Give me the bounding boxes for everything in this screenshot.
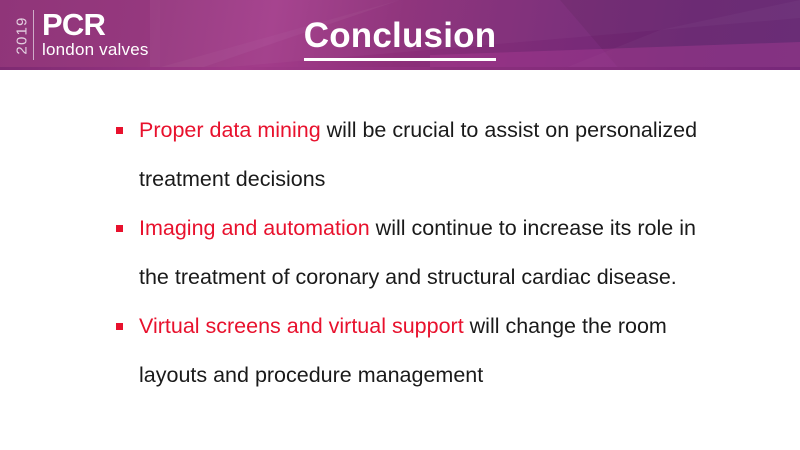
bullet-lead-phrase: Virtual screens and virtual support	[139, 314, 464, 338]
list-item: Imaging and automation will continue to …	[112, 204, 722, 302]
slide: 2019 PCR london valves Conclusion Proper…	[0, 0, 800, 450]
slide-header: 2019 PCR london valves Conclusion	[0, 0, 800, 70]
square-bullet-icon	[116, 127, 123, 134]
page-title: Conclusion	[0, 17, 800, 61]
bullet-lead-phrase: Proper data mining	[139, 118, 321, 142]
square-bullet-icon	[116, 225, 123, 232]
bullet-lead-phrase: Imaging and automation	[139, 216, 370, 240]
bullet-list: Proper data mining will be crucial to as…	[112, 106, 722, 400]
list-item: Virtual screens and virtual support will…	[112, 302, 722, 400]
list-item: Proper data mining will be crucial to as…	[112, 106, 722, 204]
page-title-text: Conclusion	[304, 17, 497, 61]
slide-body: Proper data mining will be crucial to as…	[0, 70, 800, 450]
square-bullet-icon	[116, 323, 123, 330]
